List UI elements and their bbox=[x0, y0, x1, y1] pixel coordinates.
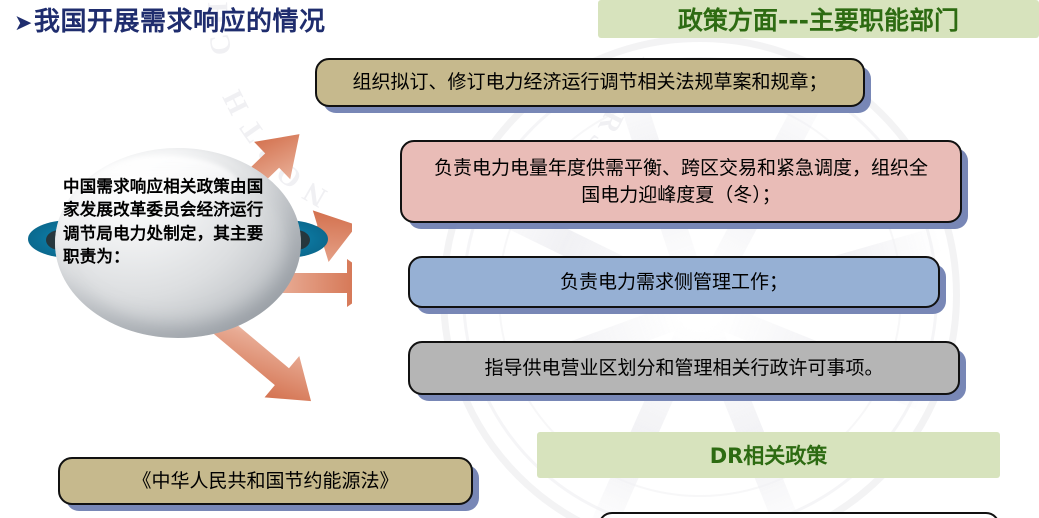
central-node-label: 中国需求响应相关政策由国家发展改革委员会经济运行调节局电力处制定，其主要职责为： bbox=[63, 175, 268, 269]
watermark-seal-char: R bbox=[590, 105, 630, 140]
responsibility-box-admin: 指导供电营业区划分和管理相关行政许可事项。 bbox=[408, 341, 960, 395]
responsibility-box-laws-label: 组织拟订、修订电力经济运行调节相关法规草案和规章； bbox=[352, 69, 827, 95]
policy-section-banner-label: 政策方面---主要职能部门 bbox=[678, 1, 959, 37]
page-title: ➤我国开展需求响应的情况 bbox=[14, 1, 325, 38]
policy-box-offscreen bbox=[598, 512, 1000, 518]
watermark-ray bbox=[586, 303, 711, 518]
policy-box-energy-conservation-law: 《中华人民共和国节约能源法》 bbox=[58, 457, 473, 505]
watermark-seal-char: T bbox=[233, 111, 272, 147]
policy-section-banner: 政策方面---主要职能部门 bbox=[598, 0, 1039, 38]
slide-canvas: NORTHCHINAELECTRICPOWERUNIVERSITY ➤我国开展需… bbox=[0, 0, 1039, 518]
central-node: 中国需求响应相关政策由国家发展改革委员会经济运行调节局电力处制定，其主要职责为： bbox=[28, 148, 328, 338]
dr-policy-section-banner-label: DR相关政策 bbox=[710, 440, 828, 470]
responsibility-box-admin-label: 指导供电营业区划分和管理相关行政许可事项。 bbox=[484, 355, 883, 381]
triangle-right-bullet-icon: ➤ bbox=[14, 11, 33, 36]
watermark-ray bbox=[688, 303, 806, 518]
responsibility-box-dsm-label: 负责电力需求侧管理工作； bbox=[560, 269, 788, 295]
policy-box-energy-conservation-law-label: 《中华人民共和国节约能源法》 bbox=[132, 468, 398, 494]
responsibility-box-balance-label: 负责电力电量年度供需平衡、跨区交易和紧急调度，组织全国电力迎峰度夏（冬）； bbox=[402, 155, 960, 207]
page-title-text: 我国开展需求响应的情况 bbox=[34, 7, 326, 37]
watermark-seal-char: H bbox=[216, 83, 257, 120]
dr-policy-section-banner: DR相关政策 bbox=[537, 432, 1000, 478]
responsibility-box-balance: 负责电力电量年度供需平衡、跨区交易和紧急调度，组织全国电力迎峰度夏（冬）； bbox=[400, 140, 962, 223]
responsibility-box-laws: 组织拟订、修订电力经济运行调节相关法规草案和规章； bbox=[315, 58, 865, 107]
responsibility-box-dsm: 负责电力需求侧管理工作； bbox=[408, 256, 940, 308]
